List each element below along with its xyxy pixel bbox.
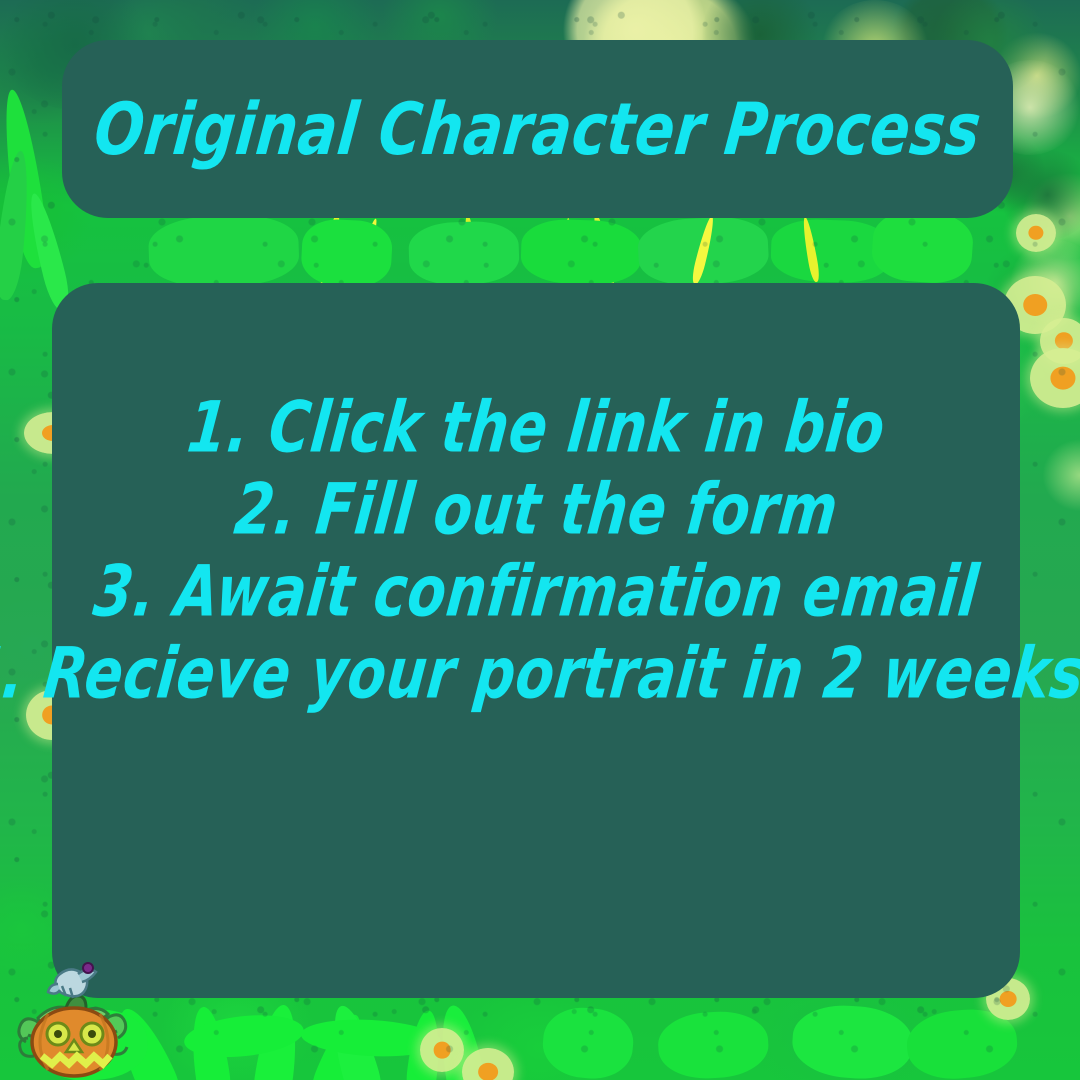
list-item: 1. Click the link in bio xyxy=(184,394,888,465)
list-item: 3. Await confirmation email xyxy=(90,558,982,629)
list-item: 2. Fill out the form xyxy=(231,476,841,547)
page-title: Original Character Process xyxy=(91,93,984,165)
list-item: 4. Recieve your portrait in 2 weeks! xyxy=(0,640,1080,711)
jack-o-lantern-logo xyxy=(8,958,138,1078)
steps-list: 1. Click the link in bio 2. Fill out the… xyxy=(52,401,1020,703)
poster-canvas: Original Character Process 1. Click the … xyxy=(0,0,1080,1080)
steps-panel: 1. Click the link in bio 2. Fill out the… xyxy=(52,283,1020,998)
title-panel: Original Character Process xyxy=(62,40,1013,218)
